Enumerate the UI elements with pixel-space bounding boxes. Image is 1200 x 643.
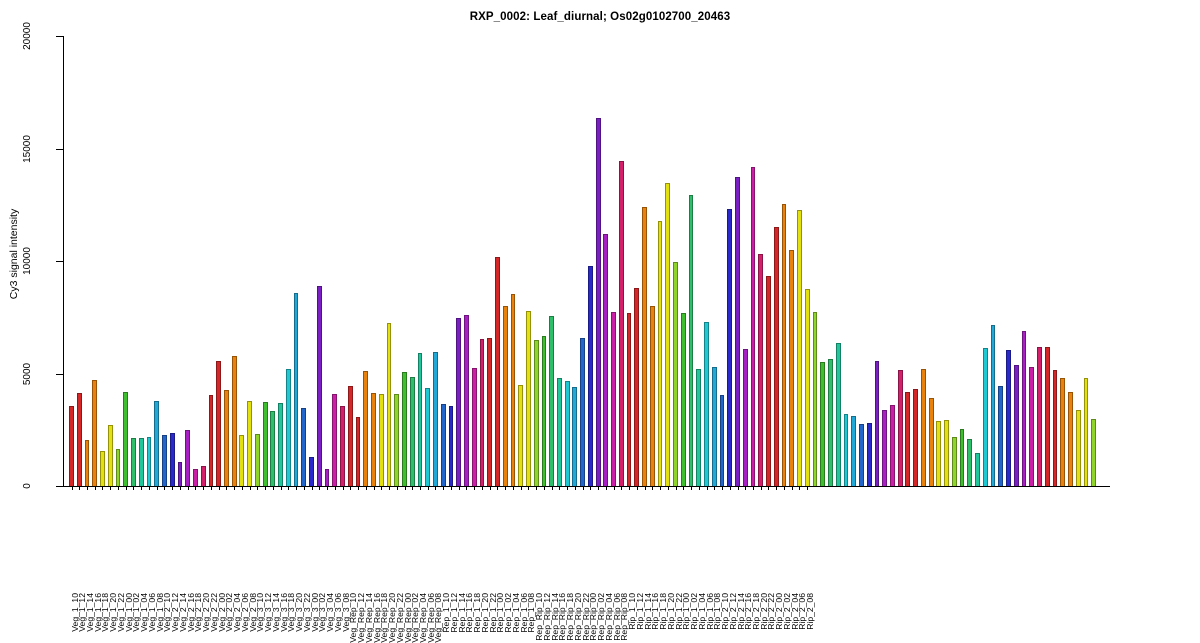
bar <box>147 437 152 487</box>
bar <box>278 403 283 486</box>
bar <box>650 306 655 486</box>
x-tick-mark <box>482 486 483 490</box>
bar <box>255 434 260 486</box>
bar <box>317 286 322 486</box>
bar <box>766 276 771 486</box>
bar <box>913 389 918 486</box>
x-tick-mark <box>552 486 553 490</box>
bar <box>332 394 337 486</box>
bar <box>875 361 880 486</box>
bar <box>77 393 82 486</box>
y-tick-label: 0 <box>22 458 34 514</box>
x-tick-mark <box>668 486 669 490</box>
x-tick-mark <box>738 486 739 490</box>
x-tick-mark <box>474 486 475 490</box>
x-tick-mark <box>606 486 607 490</box>
x-tick-mark <box>714 486 715 490</box>
bar <box>1006 350 1011 486</box>
x-tick-mark <box>226 486 227 490</box>
bar <box>1014 365 1019 487</box>
x-tick-mark <box>250 486 251 490</box>
bar <box>735 177 740 486</box>
x-tick-mark <box>397 486 398 490</box>
x-tick-mark <box>374 486 375 490</box>
x-tick-mark <box>621 486 622 490</box>
bar <box>294 293 299 487</box>
x-tick-mark <box>180 486 181 490</box>
x-tick-mark <box>722 486 723 490</box>
bar <box>882 410 887 487</box>
chart-root: RXP_0002: Leaf_diurnal; Os02g0102700_204… <box>0 0 1200 600</box>
bar <box>960 429 965 486</box>
bar <box>727 209 732 486</box>
bar <box>162 435 167 486</box>
x-tick-mark <box>164 486 165 490</box>
x-tick-mark <box>497 486 498 490</box>
x-tick-mark <box>102 486 103 490</box>
x-tick-mark <box>157 486 158 490</box>
x-tick-mark <box>195 486 196 490</box>
bar <box>185 430 190 486</box>
bar <box>991 325 996 486</box>
bar <box>572 387 577 486</box>
x-tick-mark <box>110 486 111 490</box>
bar <box>286 369 291 486</box>
bar <box>363 371 368 486</box>
x-tick-mark <box>389 486 390 490</box>
x-tick-mark <box>412 486 413 490</box>
x-tick-mark <box>768 486 769 490</box>
x-tick-mark <box>319 486 320 490</box>
x-tick-mark <box>126 486 127 490</box>
bar <box>1037 347 1042 487</box>
x-tick-mark <box>141 486 142 490</box>
bar <box>712 367 717 486</box>
x-tick-mark <box>660 486 661 490</box>
x-tick-mark <box>598 486 599 490</box>
x-axis-labels: Veg_1_10Veg_1_12Veg_1_14Veg_1_16Veg_1_18… <box>63 486 1110 600</box>
bar <box>611 312 616 486</box>
bar <box>387 323 392 486</box>
x-tick-mark <box>567 486 568 490</box>
x-tick-label-text: Rip_2_08 <box>806 593 815 630</box>
bar <box>100 451 105 486</box>
bar <box>92 380 97 486</box>
bar <box>518 385 523 486</box>
bar <box>820 362 825 486</box>
x-tick-label: Rip_2_08 <box>802 493 812 598</box>
x-tick-mark <box>219 486 220 490</box>
bar <box>108 425 113 486</box>
x-tick-mark <box>559 486 560 490</box>
bar <box>201 466 206 486</box>
x-tick-mark <box>343 486 344 490</box>
x-tick-mark <box>87 486 88 490</box>
bar <box>526 311 531 487</box>
bar <box>1091 419 1096 487</box>
bar <box>905 392 910 487</box>
y-tick-mark <box>56 149 63 150</box>
x-tick-mark <box>79 486 80 490</box>
bar <box>936 421 941 486</box>
x-tick-mark <box>405 486 406 490</box>
x-tick-mark <box>637 486 638 490</box>
bar <box>139 438 144 486</box>
bar <box>441 404 446 486</box>
x-tick-mark <box>172 486 173 490</box>
x-tick-mark <box>118 486 119 490</box>
bar <box>1060 378 1065 486</box>
x-tick-mark <box>211 486 212 490</box>
bar <box>704 322 709 486</box>
x-tick-mark <box>699 486 700 490</box>
bar <box>634 288 639 486</box>
bar <box>542 336 547 486</box>
bar <box>270 411 275 486</box>
bar <box>418 353 423 486</box>
x-tick-mark <box>683 486 684 490</box>
bar <box>356 417 361 486</box>
bar <box>69 406 74 486</box>
bar <box>402 372 407 486</box>
x-tick-mark <box>242 486 243 490</box>
bar <box>449 406 454 486</box>
x-tick-mark <box>466 486 467 490</box>
bar <box>1029 367 1034 486</box>
y-tick-mark <box>56 36 63 37</box>
bar <box>193 469 198 486</box>
y-tick-mark <box>56 486 63 487</box>
bar <box>1022 331 1027 486</box>
bar <box>549 316 554 486</box>
bar <box>580 338 585 487</box>
bar <box>967 439 972 486</box>
x-tick-mark <box>629 486 630 490</box>
bar <box>596 118 601 486</box>
bar <box>898 370 903 486</box>
bar <box>642 207 647 486</box>
y-axis-title: Cy3 signal intensity <box>2 0 18 600</box>
bar <box>224 390 229 486</box>
bar <box>828 359 833 486</box>
x-tick-mark <box>807 486 808 490</box>
bar <box>751 167 756 487</box>
bar <box>557 378 562 486</box>
y-tick-mark <box>56 374 63 375</box>
bar <box>232 356 237 487</box>
bar <box>495 257 500 487</box>
x-tick-mark <box>381 486 382 490</box>
bar <box>998 386 1003 486</box>
x-tick-mark <box>72 486 73 490</box>
bar <box>534 340 539 486</box>
x-tick-mark <box>304 486 305 490</box>
bar <box>480 339 485 486</box>
bar <box>813 312 818 486</box>
bar <box>696 369 701 486</box>
y-tick-label: 20000 <box>22 8 34 64</box>
y-tick-mark <box>56 261 63 262</box>
bar <box>921 369 926 486</box>
bar <box>85 440 90 486</box>
bar <box>301 408 306 486</box>
bar <box>797 210 802 486</box>
x-tick-mark <box>327 486 328 490</box>
x-tick-mark <box>133 486 134 490</box>
bar <box>348 386 353 486</box>
bar <box>464 315 469 486</box>
x-tick-mark <box>730 486 731 490</box>
x-tick-mark <box>799 486 800 490</box>
bar <box>673 262 678 486</box>
bar <box>216 361 221 486</box>
bar <box>603 234 608 486</box>
bar <box>774 227 779 486</box>
x-tick-mark <box>776 486 777 490</box>
bar <box>394 394 399 486</box>
x-tick-mark <box>707 486 708 490</box>
bar <box>239 435 244 486</box>
bar <box>340 406 345 486</box>
bar <box>410 377 415 486</box>
x-tick-mark <box>676 486 677 490</box>
x-tick-mark <box>459 486 460 490</box>
bar <box>154 401 159 487</box>
x-tick-mark <box>435 486 436 490</box>
x-tick-mark <box>257 486 258 490</box>
x-tick-mark <box>583 486 584 490</box>
bar <box>263 402 268 486</box>
bar <box>743 349 748 486</box>
x-tick-mark <box>95 486 96 490</box>
bar <box>379 394 384 486</box>
y-axis-title-text: Cy3 signal intensity <box>8 179 20 329</box>
y-tick-label: 15000 <box>22 121 34 177</box>
bar <box>782 204 787 486</box>
bar <box>131 438 136 486</box>
x-tick-mark <box>536 486 537 490</box>
bar <box>1068 392 1073 487</box>
x-tick-mark <box>490 486 491 490</box>
bar <box>503 306 508 486</box>
bar <box>658 221 663 487</box>
x-tick-mark <box>281 486 282 490</box>
y-tick-label: 5000 <box>22 346 34 402</box>
x-tick-mark <box>451 486 452 490</box>
bar <box>789 250 794 486</box>
bar <box>627 313 632 486</box>
bar <box>309 457 314 486</box>
x-tick-mark <box>761 486 762 490</box>
bar <box>836 343 841 486</box>
x-tick-mark <box>234 486 235 490</box>
bar <box>844 414 849 486</box>
x-tick-mark <box>614 486 615 490</box>
bar <box>425 388 430 486</box>
bar <box>983 348 988 486</box>
bar <box>433 352 438 486</box>
x-tick-mark <box>296 486 297 490</box>
bar <box>178 462 183 486</box>
x-tick-mark <box>505 486 506 490</box>
bar <box>619 161 624 486</box>
bar <box>1084 378 1089 486</box>
bar <box>689 195 694 486</box>
bar <box>665 183 670 486</box>
x-tick-mark <box>528 486 529 490</box>
x-tick-mark <box>188 486 189 490</box>
x-tick-mark <box>645 486 646 490</box>
bar <box>247 401 252 487</box>
bar <box>170 433 175 486</box>
bar <box>952 437 957 487</box>
x-tick-mark <box>420 486 421 490</box>
x-tick-mark <box>203 486 204 490</box>
bar <box>116 449 121 486</box>
x-tick-mark <box>312 486 313 490</box>
bar <box>325 469 330 486</box>
bar <box>1076 410 1081 487</box>
bar <box>1045 347 1050 487</box>
bar <box>371 393 376 486</box>
x-tick-mark <box>590 486 591 490</box>
plot-area <box>63 36 1110 486</box>
bar <box>472 368 477 486</box>
bar <box>588 266 593 487</box>
bar <box>975 453 980 486</box>
x-tick-mark <box>792 486 793 490</box>
bar <box>565 381 570 486</box>
x-tick-mark <box>745 486 746 490</box>
bar <box>720 395 725 486</box>
bar <box>859 424 864 486</box>
bar <box>758 254 763 486</box>
bar <box>209 395 214 486</box>
bar <box>487 338 492 487</box>
bar <box>944 420 949 486</box>
x-tick-mark <box>443 486 444 490</box>
y-tick-label: 10000 <box>22 233 34 289</box>
x-tick-mark <box>575 486 576 490</box>
x-tick-mark <box>753 486 754 490</box>
bar <box>511 294 516 486</box>
bar <box>867 423 872 486</box>
bar <box>851 416 856 486</box>
x-tick-mark <box>652 486 653 490</box>
x-tick-mark <box>358 486 359 490</box>
x-tick-mark <box>149 486 150 490</box>
bar <box>929 398 934 486</box>
x-tick-mark <box>428 486 429 490</box>
chart-title: RXP_0002: Leaf_diurnal; Os02g0102700_204… <box>0 11 1200 23</box>
x-tick-mark <box>521 486 522 490</box>
bar <box>890 405 895 486</box>
bar <box>456 318 461 486</box>
x-tick-mark <box>513 486 514 490</box>
x-tick-mark <box>273 486 274 490</box>
x-tick-mark <box>265 486 266 490</box>
x-tick-mark <box>366 486 367 490</box>
x-tick-mark <box>784 486 785 490</box>
bar <box>123 392 128 487</box>
x-tick-mark <box>544 486 545 490</box>
x-tick-mark <box>691 486 692 490</box>
x-tick-mark <box>335 486 336 490</box>
x-tick-mark <box>350 486 351 490</box>
bar <box>805 289 810 486</box>
x-tick-mark <box>288 486 289 490</box>
bar <box>1053 370 1058 486</box>
bar <box>681 313 686 486</box>
